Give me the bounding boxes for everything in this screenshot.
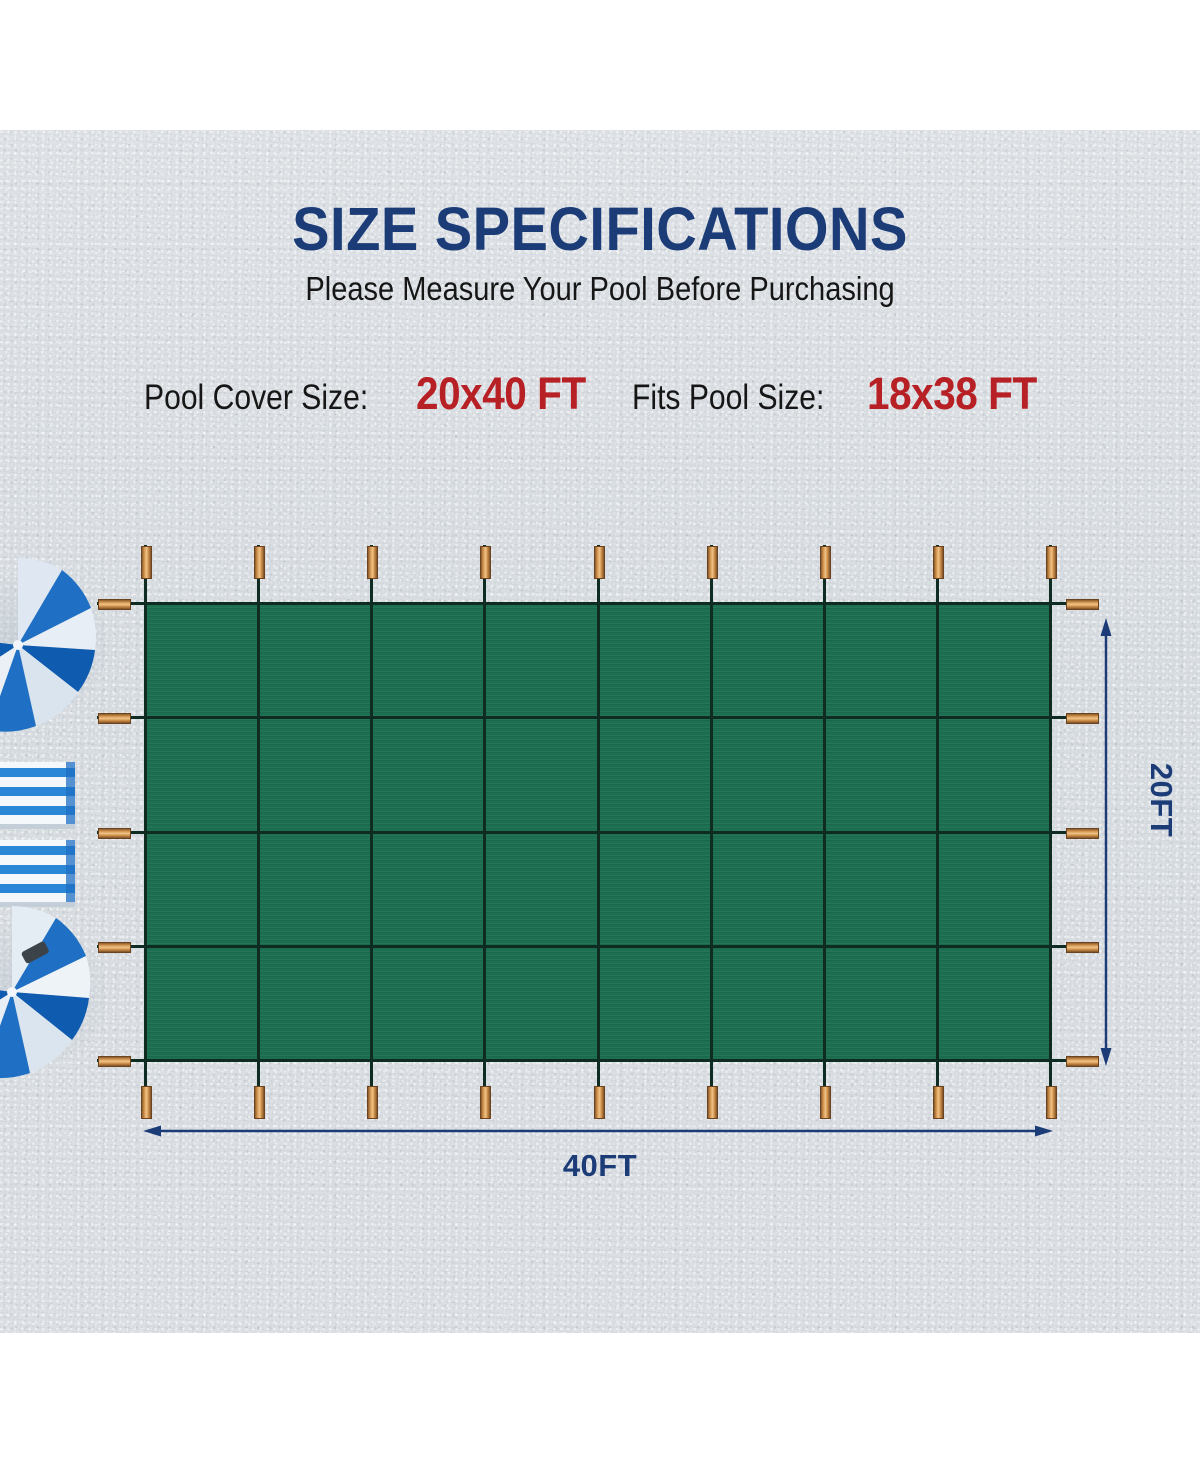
fits-pool-group: Fits Pool Size: 18x38 FT (632, 368, 1055, 420)
size-spec-line: Pool Cover Size: 20x40 FT Fits Pool Size… (0, 368, 1200, 420)
page-subtitle: Please Measure Your Pool Before Purchasi… (72, 268, 1128, 310)
fits-pool-label: Fits Pool Size: (632, 378, 824, 418)
dimension-label-height: 20FT (1143, 763, 1179, 837)
dimension-arrow-horizontal (143, 1124, 1053, 1138)
cover-size-label: Pool Cover Size: (144, 378, 368, 418)
cover-mesh-surface (145, 603, 1050, 1060)
dimension-label-width: 40FT (0, 1148, 1200, 1184)
fits-pool-value: 18x38 FT (867, 368, 1037, 420)
headings: SIZE SPECIFICATIONS Please Measure Your … (0, 195, 1200, 310)
cover-size-group: Pool Cover Size: 20x40 FT (144, 368, 604, 420)
pool-cover-diagram (145, 603, 1050, 1060)
cover-size-value: 20x40 FT (416, 368, 586, 420)
page-title: SIZE SPECIFICATIONS (48, 195, 1152, 263)
dimension-arrow-vertical (1099, 618, 1113, 1066)
